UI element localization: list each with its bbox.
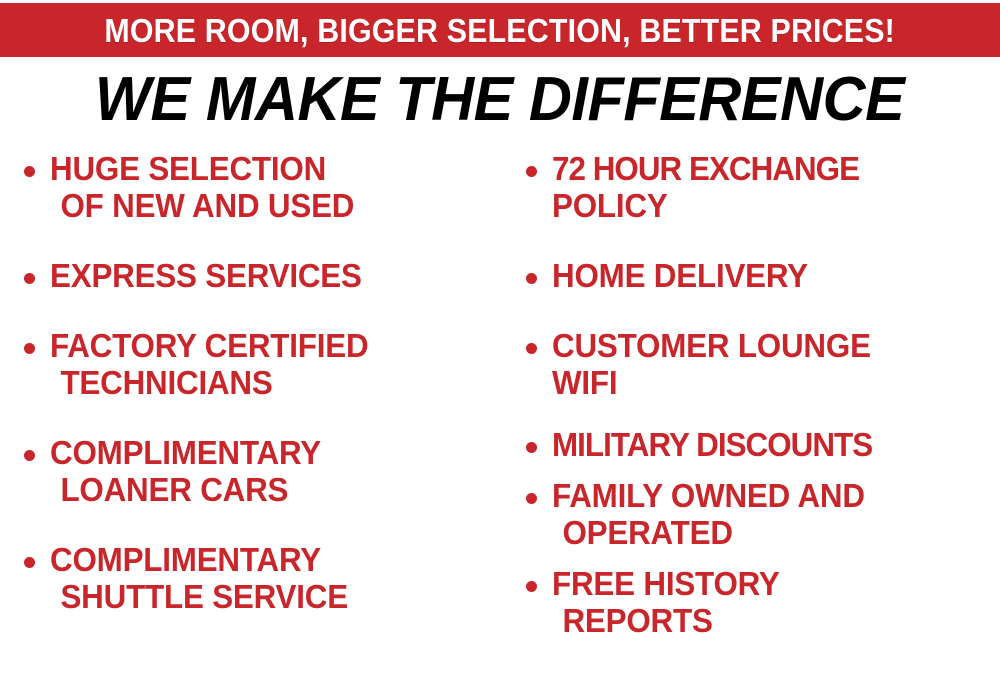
list-item-line: TECHNICIANS — [50, 364, 472, 401]
bullet-dot-icon — [24, 343, 35, 354]
bullet-dot-icon — [24, 557, 35, 568]
list-item: FAMILY OWNED AND OPERATED — [516, 477, 1000, 551]
list-item-text: EXPRESS SERVICES — [50, 257, 494, 294]
list-item-text: COMPLIMENTARY LOANER CARS — [50, 434, 494, 508]
list-item: COMPLIMENTARY LOANER CARS — [14, 434, 494, 508]
list-item-line: LOANER CARS — [50, 471, 472, 508]
promo-banner: MORE ROOM, BIGGER SELECTION, BETTER PRIC… — [0, 3, 1000, 57]
list-item-text: FAMILY OWNED AND OPERATED — [552, 477, 1000, 551]
list-item-text: MILITARY DISCOUNTS — [552, 426, 1000, 463]
list-item-text: COMPLIMENTARY SHUTTLE SERVICE — [50, 541, 494, 615]
list-item-line: COMPLIMENTARY — [50, 434, 472, 471]
list-item-line: 72 HOUR EXCHANGE — [552, 150, 978, 187]
list-item-line: COMPLIMENTARY — [50, 541, 472, 578]
list-item-line: WIFI — [552, 364, 978, 401]
list-item-text: FREE HISTORY REPORTS — [552, 565, 1000, 639]
list-item: CUSTOMER LOUNGE WIFI — [516, 327, 1000, 401]
benefits-column-right: 72 HOUR EXCHANGE POLICY HOME DELIVERY CU… — [516, 150, 1000, 694]
promo-banner-text: MORE ROOM, BIGGER SELECTION, BETTER PRIC… — [105, 14, 896, 47]
bullet-dot-icon — [24, 450, 35, 461]
bullet-dot-icon — [526, 273, 537, 284]
bullet-dot-icon — [526, 442, 537, 453]
list-item-line: HUGE SELECTION — [50, 150, 472, 187]
list-item-text: HOME DELIVERY — [552, 257, 1000, 294]
list-item-line: OPERATED — [552, 514, 978, 551]
list-item: EXPRESS SERVICES — [14, 257, 494, 294]
list-item-line: FAMILY OWNED AND — [552, 477, 978, 514]
list-item: 72 HOUR EXCHANGE POLICY — [516, 150, 1000, 224]
list-item: HUGE SELECTION OF NEW AND USED — [14, 150, 494, 224]
bullet-dot-icon — [24, 166, 35, 177]
list-item-line: HOME DELIVERY — [552, 257, 978, 294]
list-item-text: HUGE SELECTION OF NEW AND USED — [50, 150, 494, 224]
list-item: MILITARY DISCOUNTS — [516, 426, 1000, 463]
list-item-text: FACTORY CERTIFIED TECHNICIANS — [50, 327, 494, 401]
list-item-text: CUSTOMER LOUNGE WIFI — [552, 327, 1000, 401]
list-item-line: FACTORY CERTIFIED — [50, 327, 472, 364]
page-title: WE MAKE THE DIFFERENCE — [95, 69, 905, 131]
list-item: FACTORY CERTIFIED TECHNICIANS — [14, 327, 494, 401]
list-item-line: CUSTOMER LOUNGE — [552, 327, 978, 364]
list-item: COMPLIMENTARY SHUTTLE SERVICE — [14, 541, 494, 615]
bullet-dot-icon — [24, 273, 35, 284]
list-item: HOME DELIVERY — [516, 257, 1000, 294]
list-item-line: FREE HISTORY — [552, 565, 978, 602]
list-item: FREE HISTORY REPORTS — [516, 565, 1000, 639]
list-item-line: POLICY — [552, 187, 978, 224]
list-item-line: MILITARY DISCOUNTS — [552, 426, 978, 463]
list-item-line: SHUTTLE SERVICE — [50, 578, 472, 615]
bullet-dot-icon — [526, 581, 537, 592]
benefits-column-left: HUGE SELECTION OF NEW AND USED EXPRESS S… — [14, 150, 494, 694]
list-item-line: EXPRESS SERVICES — [50, 257, 472, 294]
benefits-columns: HUGE SELECTION OF NEW AND USED EXPRESS S… — [0, 150, 1000, 694]
list-item-line: REPORTS — [552, 602, 978, 639]
headline-container: WE MAKE THE DIFFERENCE — [0, 64, 1000, 136]
bullet-dot-icon — [526, 166, 537, 177]
bullet-dot-icon — [526, 493, 537, 504]
bullet-dot-icon — [526, 343, 537, 354]
list-item-text: 72 HOUR EXCHANGE POLICY — [552, 150, 1000, 224]
list-item-line: OF NEW AND USED — [50, 187, 472, 224]
